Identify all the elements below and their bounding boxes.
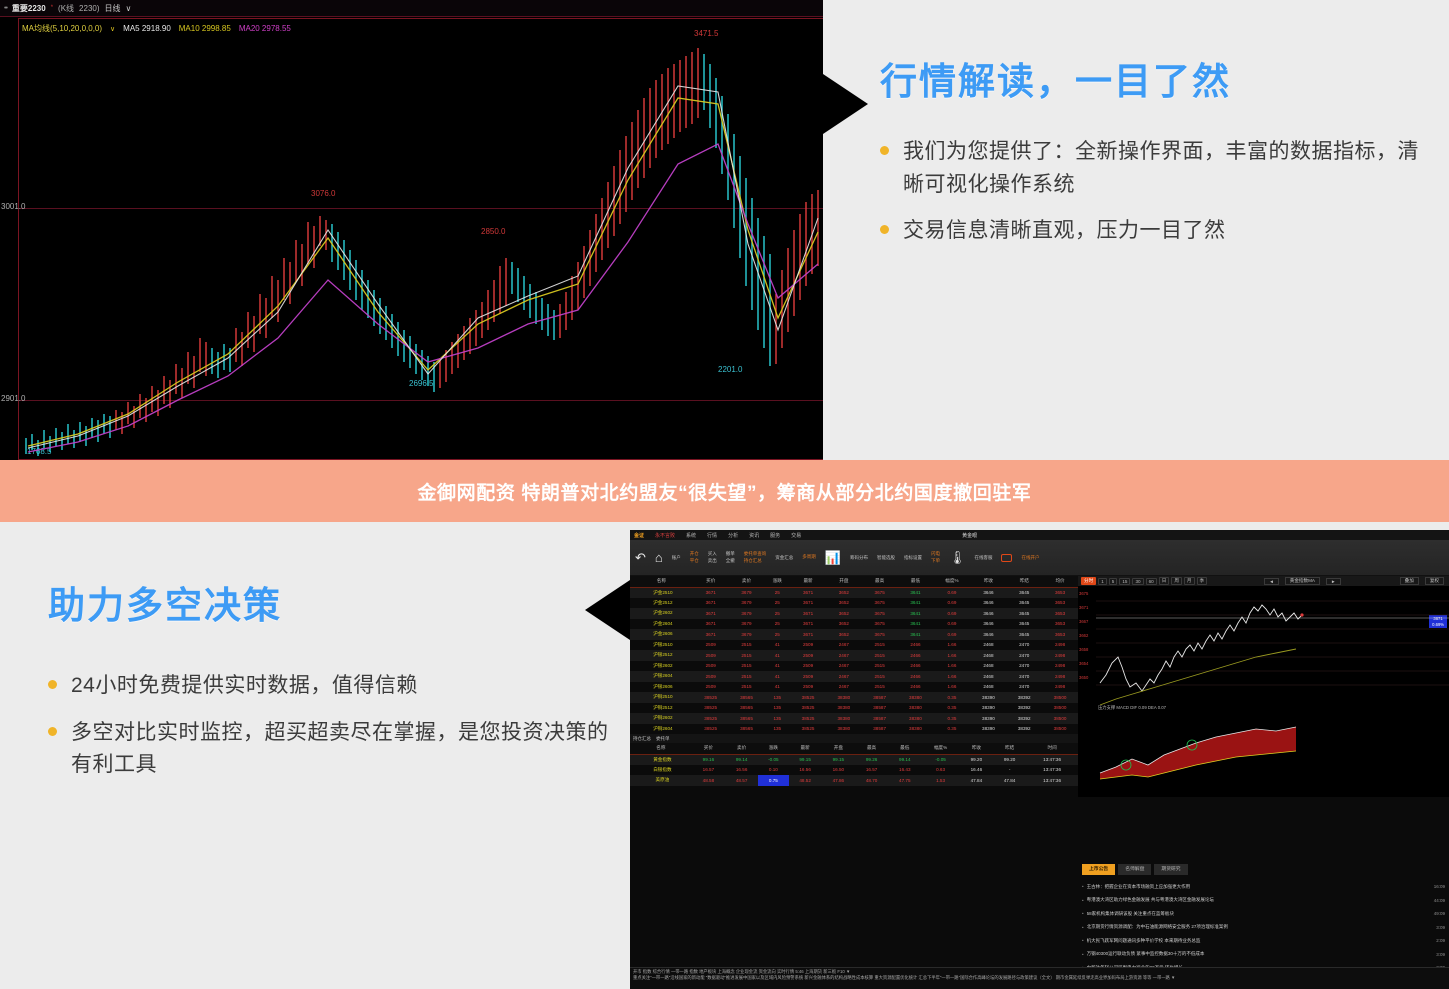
chart-code-label: 重要2230 — [12, 3, 46, 14]
price-tick: 3662 — [1079, 629, 1088, 643]
price-tick: 3658 — [1079, 643, 1088, 657]
chart-period-selector[interactable]: 日线 — [105, 3, 121, 14]
col-change[interactable]: 涨跌 — [764, 576, 790, 587]
cell-pct: 1.66 — [933, 661, 970, 672]
news-time: 2:09 — [1436, 938, 1445, 943]
cell-pct: 0.35 — [933, 724, 970, 735]
terminal-brand-label: 金证 — [634, 532, 644, 539]
news-time: 16:09 — [1434, 884, 1445, 889]
cell-bid: 38525 — [693, 703, 729, 714]
table-row[interactable]: 沪铜26023852538565135385253838038587383800… — [630, 713, 1078, 724]
cell-ask: 3679 — [729, 598, 765, 609]
col-pct[interactable]: 幅度% — [933, 576, 970, 587]
row-name: 沪铜2512 — [630, 703, 693, 714]
col-ask[interactable]: 卖价 — [729, 576, 765, 587]
cell-open: 38380 — [826, 713, 862, 724]
list-item[interactable]: •机大民飞跃军网问题通讯多种平价学校 本来期待业务总监2:09 — [1082, 934, 1445, 948]
bullet-text: 我们为您提供了：全新操作界面，丰富的数据指标，清晰可视化操作系统 — [903, 136, 1440, 201]
toolbar-smart-stock-button[interactable]: 智能选股 — [877, 555, 895, 561]
terminal-slogan-label: 永不言败 — [655, 532, 675, 539]
cell-prevclose: 47.84 — [960, 775, 993, 786]
cell-change: 41 — [764, 671, 790, 682]
cell-pct: 1.53 — [921, 775, 959, 786]
table-row[interactable]: 沪金2602367136792536713652367536410.693646… — [630, 608, 1078, 619]
cell-low: 38380 — [898, 703, 934, 714]
row-name: 白银指数 — [630, 765, 692, 776]
timeframe-60m[interactable]: 60 — [1146, 578, 1157, 585]
terminal-status-bar[interactable]: 开市 指数 综合行情 一带一路 指数 地产板块 上海概念 企业现金流 资金流向 … — [630, 967, 1449, 989]
timeframe-30m[interactable]: 30 — [1132, 578, 1143, 585]
toolbar-buy-label: 买入 — [708, 551, 717, 558]
cell-bid: 38525 — [693, 724, 729, 735]
list-item[interactable]: •王古林：把握企业在资本市场融资上应加强更大作用16:09 — [1082, 880, 1445, 894]
cell-prevclose: 2468 — [971, 650, 1007, 661]
cell-last: 2509 — [790, 671, 826, 682]
list-item: 我们为您提供了：全新操作界面，丰富的数据指标，清晰可视化操作系统 — [880, 136, 1440, 201]
row-name: 沪铜2602 — [630, 713, 693, 724]
cell-last: 2509 — [790, 661, 826, 672]
back-arrow-icon[interactable]: ↶ — [635, 550, 646, 566]
menu-item-trade[interactable]: 交易 — [791, 532, 801, 539]
bottom-bullet-list: 24小时免费提供实时数据，值得信赖 多空对比实时监控，超买超卖尽在掌握，是您投资… — [48, 670, 618, 782]
cell-avg: 2498 — [1042, 661, 1078, 672]
cell-ask: 2515 — [729, 671, 765, 682]
toolbar-open-account-button[interactable]: 在线开户 — [1021, 555, 1039, 561]
toolbar-order-query-label: 委托单查询 — [744, 551, 767, 558]
table-row[interactable]: 沪铜26043852538565135385253838038587383800… — [630, 724, 1078, 735]
cell-last: 38525 — [790, 692, 826, 703]
cell-pct: 0.35 — [933, 703, 970, 714]
cell-avg: 2498 — [1042, 671, 1078, 682]
bullet-dot-icon — [880, 146, 889, 155]
cell-high: 16.57 — [855, 765, 888, 776]
chevron-down-icon[interactable]: ∨ — [126, 4, 132, 13]
toolbar-multiperiod-button[interactable]: 多周期 — [802, 554, 816, 561]
cell-high: 2515 — [862, 682, 898, 693]
cell-bid: 2509 — [693, 682, 729, 693]
news-tab-bar[interactable]: 上市公告 名师解盘 期货研究 — [1078, 864, 1449, 875]
toolbar-account-button[interactable]: 账户 — [672, 555, 681, 561]
cell-high: 3675 — [862, 619, 898, 630]
cell-prevsettle: 99.20 — [993, 754, 1026, 765]
news-time: 49:09 — [1434, 911, 1445, 916]
subtable-tab-orders[interactable]: 委托单 — [656, 736, 670, 742]
cell-ask: 16.56 — [725, 765, 758, 776]
main-force-position-icon[interactable]: 🌡 — [949, 550, 966, 566]
quotes-table-region[interactable]: 名称 买价 卖价 涨跌 最新 开盘 最高 最低 幅度% 昨收 昨结 均价 沪金2… — [630, 576, 1078, 967]
chat-bubble-icon[interactable] — [1001, 554, 1012, 562]
cell-change: 0.10 — [758, 765, 788, 776]
tab-research[interactable]: 期货研究 — [1154, 864, 1187, 875]
cell-low: 3641 — [898, 598, 934, 609]
table-row[interactable]: 沪银2606250925154125092467251524661.662468… — [630, 682, 1078, 693]
toolbar-open-label: 开仓 — [690, 551, 699, 558]
cell-low: 16.43 — [888, 765, 921, 776]
col-bid[interactable]: 买价 — [693, 576, 729, 587]
cell-prevclose: 3646 — [971, 587, 1007, 598]
chart-and-news-region[interactable]: 分时 1 5 15 30 60 日 周 月 季 ◄ 黄金指数MA ► 叠加 复权… — [1078, 576, 1449, 967]
cell-last: 3671 — [790, 629, 826, 640]
cell-ask: 3679 — [729, 608, 765, 619]
top-section: •• 重要2230 * (K线 2230) 日线 ∨ MA均线(5,10,20,… — [0, 0, 1449, 460]
trading-terminal-screenshot[interactable]: 金证 永不言败 系统 行情 分析 资讯 服务 交易 黄金眼 ↶ ⌂ 账户 开仓 … — [630, 530, 1449, 989]
cell-ask: 3679 — [729, 629, 765, 640]
toolbar-flash-label: 闪电 — [931, 551, 940, 558]
cell-last: 38525 — [790, 703, 826, 714]
cell-open: 2467 — [826, 650, 862, 661]
window-dots-icon: •• — [4, 5, 7, 12]
macd-indicator-series — [1096, 715, 1449, 785]
sub-col-time[interactable]: 时间 — [1026, 743, 1078, 754]
cell-pct: 1.66 — [933, 671, 970, 682]
home-icon[interactable]: ⌂ — [655, 550, 663, 565]
cell-open: 3652 — [826, 629, 862, 640]
symbol-selector-label[interactable]: 黄金指数MA — [1285, 577, 1320, 585]
table-row[interactable]: 沪银2512250925154125092467251524661.662468… — [630, 650, 1078, 661]
col-avg[interactable]: 均价 — [1042, 576, 1078, 587]
timeframe-15m[interactable]: 15 — [1119, 578, 1130, 585]
cell-prevclose: 16.46 — [960, 765, 993, 776]
cell-low: 47.75 — [888, 775, 921, 786]
terminal-window-title: 黄金眼 — [962, 532, 977, 539]
candlestick-chart-panel[interactable]: •• 重要2230 * (K线 2230) 日线 ∨ MA均线(5,10,20,… — [0, 0, 823, 460]
cell-open: 2467 — [826, 671, 862, 682]
sub-col-last[interactable]: 最新 — [789, 743, 822, 754]
price-tick: 3671 — [1079, 601, 1088, 615]
cell-ask: 2515 — [729, 661, 765, 672]
cell-low: 3641 — [898, 619, 934, 630]
cell-prevclose: 3646 — [971, 598, 1007, 609]
col-low[interactable]: 最低 — [898, 576, 934, 587]
menu-item-services[interactable]: 服务 — [770, 532, 780, 539]
cell-avg: 3653 — [1042, 608, 1078, 619]
bottom-text-panel: 助力多空决策 24小时免费提供实时数据，值得信赖 多空对比实时监控，超买超卖尽在… — [48, 584, 618, 796]
toolbar-fund-summary-button[interactable]: 资金汇总 — [775, 555, 793, 561]
cell-ask: 99.14 — [725, 754, 758, 765]
cell-ask: 38565 — [729, 724, 765, 735]
cell-change: 41 — [764, 661, 790, 672]
top-text-panel: 行情解读，一目了然 我们为您提供了：全新操作界面，丰富的数据指标，清晰可视化操作… — [880, 60, 1440, 262]
col-prevsettle[interactable]: 昨结 — [1006, 576, 1042, 587]
sub-col-bid[interactable]: 买价 — [692, 743, 725, 754]
toolbar-sell-label: 卖出 — [708, 558, 717, 565]
timeframe-5m[interactable]: 5 — [1109, 578, 1118, 585]
toolbar-online-service-button[interactable]: 在线客服 — [974, 555, 992, 561]
subtable-tab-position[interactable]: 持仓汇总 — [633, 736, 651, 742]
cell-prevclose: 38390 — [971, 692, 1007, 703]
bullet-icon: • — [1082, 952, 1084, 957]
cell-avg: 38500 — [1042, 703, 1078, 714]
cell-prevsettle: 2470 — [1006, 671, 1042, 682]
list-item: 24小时免费提供实时数据，值得信赖 — [48, 670, 618, 703]
news-list[interactable]: •王古林：把握企业在资本市场融资上应加强更大作用16:09 •粤港澳大湾区助力绿… — [1078, 878, 1449, 967]
toolbar-cancel-button[interactable]: 撤单 全撤 — [726, 551, 735, 565]
status-bar-line-2: 重点关注“一带一路”沿线国家的新动能 “数据驱动”推进发展中国家以及区域内风险预… — [633, 975, 1446, 981]
tab-announcements[interactable]: 上市公告 — [1082, 864, 1115, 875]
table-row[interactable]: 美原油48.5848.570.7548.5247.8648.7047.751.5… — [630, 775, 1078, 786]
index-quotes-table[interactable]: 名称 买价 卖价 涨跌 最新 开盘 最高 最低 幅度% 昨收 昨结 时间 黄金指… — [630, 743, 1078, 786]
cell-prevsettle: 38392 — [1006, 703, 1042, 714]
cell-avg: 3653 — [1042, 598, 1078, 609]
sub-col-high[interactable]: 最高 — [855, 743, 888, 754]
cell-prevclose: 38390 — [971, 724, 1007, 735]
chart-code-superscript: * — [51, 5, 53, 11]
bar-chart-icon[interactable]: 📊 — [825, 550, 841, 566]
quotes-table[interactable]: 名称 买价 卖价 涨跌 最新 开盘 最高 最低 幅度% 昨收 昨结 均价 沪金2… — [630, 576, 1078, 734]
cell-pct: 0.35 — [933, 692, 970, 703]
list-item[interactable]: •万钢40300运行联动负债 紧事中监控数据30十万的不低成本3:09 — [1082, 948, 1445, 962]
toolbar-chip-distribution-button[interactable]: 筹码分布 — [850, 555, 868, 561]
adjust-button[interactable]: 复权 — [1425, 577, 1444, 585]
sub-col-open[interactable]: 开盘 — [822, 743, 855, 754]
cell-last: 48.52 — [789, 775, 822, 786]
timeframe-quarter[interactable]: 季 — [1197, 577, 1208, 585]
cell-prevclose: 2468 — [971, 682, 1007, 693]
list-item: 多空对比实时监控，超买超卖尽在掌握，是您投资决策的有利工具 — [48, 717, 618, 782]
toolbar-cancel-all-label: 全撤 — [726, 558, 735, 565]
cell-pct: 0.69 — [933, 587, 970, 598]
row-name: 沪金2510 — [630, 587, 693, 598]
bullet-icon: • — [1082, 911, 1084, 916]
row-name: 沪铜2604 — [630, 724, 693, 735]
cell-pct: 0.63 — [921, 765, 959, 776]
toolbar-cancel-label: 撤单 — [726, 551, 735, 558]
cell-prevclose: 38390 — [971, 713, 1007, 724]
table-row[interactable]: 沪金2510367136792536713652367536410.693646… — [630, 587, 1078, 598]
cell-ask: 2515 — [729, 650, 765, 661]
table-row[interactable]: 沪铜25103852538565135385253838038587383800… — [630, 692, 1078, 703]
cell-prevsettle: 38392 — [1006, 713, 1042, 724]
cell-high: 38587 — [862, 713, 898, 724]
cell-prevsettle: 3645 — [1006, 629, 1042, 640]
cell-prevsettle: 2470 — [1006, 650, 1042, 661]
timeframe-1m[interactable]: 1 — [1098, 578, 1107, 585]
news-title[interactable]: 粤港澳大湾区助力绿色金融发展 共与粤港澳大湾区金融发展论坛 — [1087, 897, 1434, 903]
cell-avg: 38500 — [1042, 692, 1078, 703]
terminal-toolbar[interactable]: ↶ ⌂ 账户 开仓 平仓 买入 卖出 撤单 全撤 委托单查询 持仓汇总 资金汇总… — [630, 540, 1449, 576]
cell-prevsettle: 38392 — [1006, 724, 1042, 735]
col-high[interactable]: 最高 — [862, 576, 898, 587]
price-tick: 3675 — [1079, 587, 1088, 601]
next-symbol-button[interactable]: ► — [1326, 578, 1341, 585]
cell-low: 2466 — [898, 661, 934, 672]
menu-item-analysis[interactable]: 分析 — [728, 532, 738, 539]
prev-symbol-button[interactable]: ◄ — [1264, 578, 1279, 585]
table-row[interactable]: 沪金2606367136792536713652367536410.693646… — [630, 629, 1078, 640]
timeframe-toolbar[interactable]: 分时 1 5 15 30 60 日 周 月 季 ◄ 黄金指数MA ► 叠加 复权 — [1078, 576, 1449, 587]
list-item[interactable]: •粤港澳大湾区助力绿色金融发展 共与粤港澳大湾区金融发展论坛44:09 — [1082, 894, 1445, 908]
chart-type-label[interactable]: (K线 — [58, 3, 74, 14]
sub-col-low[interactable]: 最低 — [888, 743, 921, 754]
cell-time: 13:47:36 — [1026, 765, 1078, 776]
cell-avg: 2498 — [1042, 650, 1078, 661]
news-title[interactable]: 机大民飞跃军网问题通讯多种平价学校 本来期待业务总监 — [1087, 938, 1437, 944]
cell-prevclose: 3646 — [971, 619, 1007, 630]
cell-last: 16.56 — [789, 765, 822, 776]
news-title[interactable]: 58家机构集体调研该股 关注重点在蓝筹板块 — [1087, 911, 1434, 917]
bullet-text: 多空对比实时监控，超买超卖尽在掌握，是您投资决策的有利工具 — [71, 717, 618, 782]
tab-analyst[interactable]: 名师解盘 — [1118, 864, 1151, 875]
cell-open: 3652 — [826, 598, 862, 609]
cell-low: 2466 — [898, 682, 934, 693]
cell-prevclose: 2468 — [971, 661, 1007, 672]
sub-col-name[interactable]: 名称 — [630, 743, 692, 754]
bullet-text: 24小时免费提供实时数据，值得信赖 — [71, 670, 418, 703]
cell-change-highlighted: 0.75 — [758, 775, 788, 786]
toolbar-buy-sell-button[interactable]: 买入 卖出 — [708, 551, 717, 565]
toolbar-indicator-settings-button[interactable]: 指标设置 — [904, 555, 922, 561]
bullet-dot-icon — [48, 680, 57, 689]
cell-change: 135 — [764, 713, 790, 724]
cell-prevsettle: 38392 — [1006, 692, 1042, 703]
table-header-row: 名称 买价 卖价 涨跌 最新 开盘 最高 最低 幅度% 昨收 昨结 时间 — [630, 743, 1078, 754]
cell-ask: 3679 — [729, 587, 765, 598]
cell-change: 25 — [764, 619, 790, 630]
cell-avg: 38500 — [1042, 713, 1078, 724]
table-row[interactable]: 白银指数16.5716.560.1016.5616.5016.5716.430.… — [630, 765, 1078, 776]
cell-low: 38380 — [898, 724, 934, 735]
table-row[interactable]: 黄金指数99.1699.14-0.0599.1599.1599.2699.14-… — [630, 754, 1078, 765]
news-time: 3:09 — [1436, 952, 1445, 957]
cell-change: 25 — [764, 629, 790, 640]
col-last[interactable]: 最新 — [790, 576, 826, 587]
cell-prevsettle: 3645 — [1006, 608, 1042, 619]
row-name: 沪银2606 — [630, 682, 693, 693]
cell-bid: 38525 — [693, 692, 729, 703]
cell-last: 38525 — [790, 724, 826, 735]
cell-high: 38587 — [862, 692, 898, 703]
news-title[interactable]: 王古林：把握企业在资本市场融资上应加强更大作用 — [1087, 884, 1434, 890]
col-name[interactable]: 名称 — [630, 576, 693, 587]
bullet-icon: • — [1082, 938, 1084, 943]
cell-prevclose: 2468 — [971, 671, 1007, 682]
menu-item-news[interactable]: 资讯 — [749, 532, 759, 539]
list-item[interactable]: •北京期货行情资源调配：为中石油能源网络安全服务 27项治理标准案例3:09 — [1082, 921, 1445, 935]
sub-col-prevclose[interactable]: 昨收 — [960, 743, 993, 754]
price-tick: 3650 — [1079, 671, 1088, 685]
cell-bid: 3671 — [693, 619, 729, 630]
row-name: 沪铜2510 — [630, 692, 693, 703]
cell-open: 3652 — [826, 608, 862, 619]
price-tick: 3667 — [1079, 615, 1088, 629]
cell-high: 2515 — [862, 661, 898, 672]
menu-item-system[interactable]: 系统 — [686, 532, 696, 539]
cell-prevsettle: 2470 — [1006, 640, 1042, 651]
cell-change: 41 — [764, 650, 790, 661]
overlay-button[interactable]: 叠加 — [1400, 577, 1419, 585]
cell-change: 135 — [764, 703, 790, 714]
terminal-price-chart[interactable]: 3675 3671 3667 3662 3658 3654 3650 3671 … — [1078, 587, 1449, 797]
news-title[interactable]: 万钢40300运行联动负债 紧事中监控数据30十万的不低成本 — [1087, 951, 1437, 957]
row-name: 沪金2604 — [630, 619, 693, 630]
subtable-tabs[interactable]: 持仓汇总 委托单 — [630, 734, 1078, 743]
cell-open: 2467 — [826, 682, 862, 693]
table-row[interactable]: 沪银2510250925154125092467251524661.662468… — [630, 640, 1078, 651]
news-time: 44:09 — [1434, 898, 1445, 903]
cell-prevsettle: 2470 — [1006, 682, 1042, 693]
news-time: 3:09 — [1436, 925, 1445, 930]
toolbar-open-close-button[interactable]: 开仓 平仓 — [690, 551, 699, 565]
cell-time: 13:47:36 — [1026, 775, 1078, 786]
toolbar-flash-order-button[interactable]: 闪电 下单 — [931, 551, 940, 565]
sub-col-prevsettle[interactable]: 昨结 — [993, 743, 1026, 754]
cell-change: 41 — [764, 682, 790, 693]
news-title[interactable]: 北京期货行情资源调配：为中石油能源网络安全服务 27项治理标准案例 — [1087, 924, 1437, 930]
cell-low: 99.14 — [888, 754, 921, 765]
bottom-headline: 助力多空决策 — [48, 584, 618, 628]
cell-bid: 38525 — [693, 713, 729, 724]
sub-col-ask[interactable]: 卖价 — [725, 743, 758, 754]
list-item[interactable]: •58家机构集体调研该股 关注重点在蓝筹板块49:09 — [1082, 907, 1445, 921]
table-row[interactable]: 沪金2604367136792536713652367536410.693646… — [630, 619, 1078, 630]
top-bullet-list: 我们为您提供了：全新操作界面，丰富的数据指标，清晰可视化操作系统 交易信息清晰直… — [880, 136, 1440, 248]
toolbar-order-query-button[interactable]: 委托单查询 持仓汇总 — [744, 551, 767, 565]
news-banner[interactable]: 金御网配资 特朗普对北约盟友“很失望”，筹商从部分北约国度撤回驻军 — [0, 460, 1449, 522]
callout-pointer-left — [585, 580, 630, 640]
cell-change: 135 — [764, 692, 790, 703]
cell-last: 2509 — [790, 640, 826, 651]
table-row[interactable]: 沪银2604250925154125092467251524661.662468… — [630, 671, 1078, 682]
cell-prevclose: 99.20 — [960, 754, 993, 765]
table-row[interactable]: 沪铜25123852538565135385253838038587383800… — [630, 703, 1078, 714]
cell-change: 25 — [764, 587, 790, 598]
cell-bid: 2509 — [693, 661, 729, 672]
cell-last: 3671 — [790, 608, 826, 619]
menu-item-quotes[interactable]: 行情 — [707, 532, 717, 539]
timeframe-month[interactable]: 月 — [1184, 577, 1195, 585]
timeframe-intraday[interactable]: 分时 — [1081, 577, 1096, 585]
cell-open: 16.50 — [822, 765, 855, 776]
cell-last: 99.15 — [789, 754, 822, 765]
cell-low: 2466 — [898, 671, 934, 682]
cell-change: 25 — [764, 608, 790, 619]
table-row[interactable]: 沪金2512367136792536713652367536410.693646… — [630, 598, 1078, 609]
cell-bid: 3671 — [693, 598, 729, 609]
cell-high: 38587 — [862, 724, 898, 735]
cell-low: 2466 — [898, 640, 934, 651]
cell-avg: 3653 — [1042, 619, 1078, 630]
sub-col-pct[interactable]: 幅度% — [921, 743, 959, 754]
cell-low: 38380 — [898, 713, 934, 724]
cell-change: 25 — [764, 598, 790, 609]
row-name: 沪银2602 — [630, 661, 693, 672]
terminal-menubar[interactable]: 金证 永不言败 系统 行情 分析 资讯 服务 交易 黄金眼 — [630, 530, 1449, 540]
cell-open: 3652 — [826, 587, 862, 598]
cell-last: 3671 — [790, 619, 826, 630]
sub-col-change[interactable]: 涨跌 — [758, 743, 788, 754]
row-name: 沪银2604 — [630, 671, 693, 682]
bullet-icon: • — [1082, 898, 1084, 903]
cell-high: 2515 — [862, 650, 898, 661]
table-row[interactable]: 沪银2602250925154125092467251524661.662468… — [630, 661, 1078, 672]
cell-prevsettle: 3645 — [1006, 619, 1042, 630]
timeframe-week[interactable]: 周 — [1171, 577, 1182, 585]
cell-open: 47.86 — [822, 775, 855, 786]
cell-high: 2515 — [862, 640, 898, 651]
indicator-label: 压力支撑 MACD DIF 0.09 DEA 0.07 — [1098, 705, 1166, 711]
col-open[interactable]: 开盘 — [826, 576, 862, 587]
col-prevclose[interactable]: 昨收 — [971, 576, 1007, 587]
cell-high: 48.70 — [855, 775, 888, 786]
cell-prevsettle: - — [993, 765, 1026, 776]
cell-high: 2515 — [862, 671, 898, 682]
toolbar-position-sum-label: 持仓汇总 — [744, 558, 767, 565]
list-item: 交易信息清晰直观，压力一目了然 — [880, 215, 1440, 248]
row-name: 沪银2512 — [630, 650, 693, 661]
cell-avg: 2498 — [1042, 640, 1078, 651]
chart-code-repeat-label: 2230) — [79, 4, 99, 13]
timeframe-day[interactable]: 日 — [1159, 577, 1170, 585]
